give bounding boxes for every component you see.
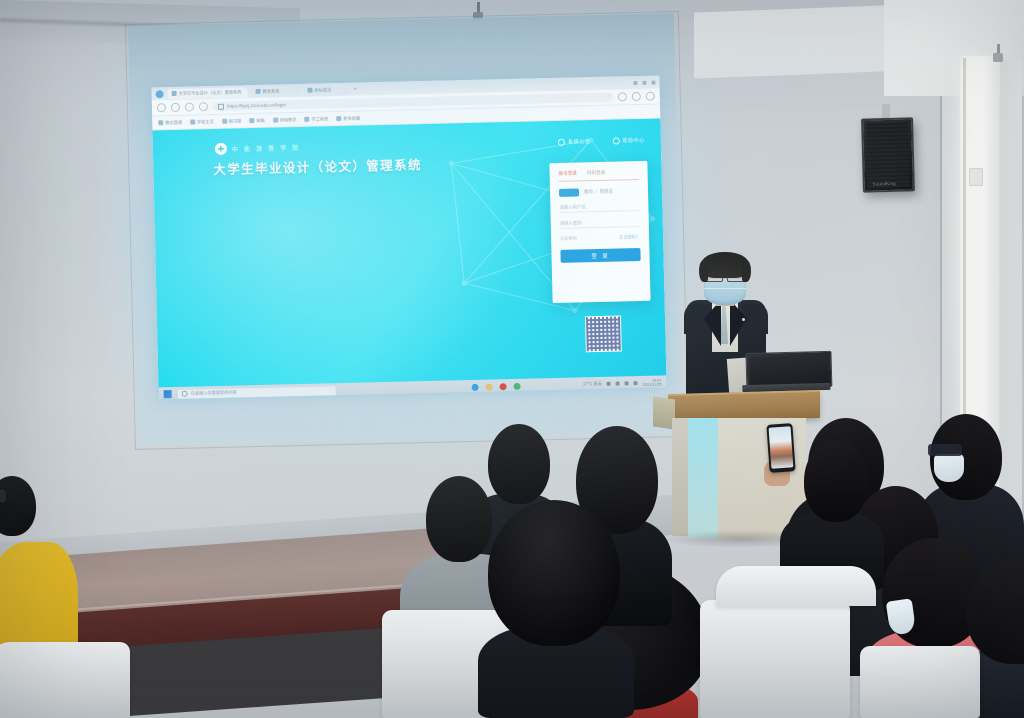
login-options-row: 记住密码 忘记密码？ bbox=[560, 234, 640, 242]
chair bbox=[716, 566, 876, 606]
tab-label: 新标签页 bbox=[314, 87, 331, 93]
username-placeholder: 请输入用户名 bbox=[559, 204, 585, 211]
tab-favicon-icon bbox=[256, 89, 261, 94]
tab-favicon-icon bbox=[308, 88, 313, 93]
bookmark-label: 网络教学 bbox=[280, 117, 297, 123]
presenter-hair-side-right bbox=[742, 260, 751, 282]
bookmark-item[interactable]: 学工系统 bbox=[304, 116, 328, 123]
qr-code bbox=[585, 315, 622, 352]
chair bbox=[860, 646, 980, 718]
tab-favicon-icon bbox=[172, 91, 177, 96]
projection-area: 大学生毕业设计（论文）管理系统 教务系统 新标签页 + bbox=[128, 13, 684, 446]
user-icon[interactable] bbox=[632, 92, 641, 101]
bookmark-label: 学工系统 bbox=[311, 116, 328, 122]
chair bbox=[700, 600, 850, 718]
address-text: https://bysj.zzuli.edu.cn/login bbox=[227, 102, 286, 108]
browser-tab[interactable]: 新标签页 bbox=[303, 84, 349, 95]
browser-tab[interactable]: 大学生毕业设计（论文）管理系统 bbox=[167, 87, 247, 99]
input-method-icon[interactable] bbox=[634, 381, 638, 385]
login-submit-button[interactable]: 登 录 bbox=[560, 248, 640, 263]
tab-label: 教务系统 bbox=[263, 88, 280, 94]
show-hidden-icon[interactable] bbox=[607, 382, 611, 386]
browser-logo-icon bbox=[156, 90, 164, 98]
institution-name: 中 能 源 管 学 院 bbox=[232, 142, 301, 153]
tab-account-login[interactable]: 账号登录 bbox=[559, 170, 578, 176]
taskbar-apps bbox=[472, 382, 521, 390]
system-title: 大学生毕业设计（论文）管理系统 bbox=[213, 154, 422, 178]
site-brand: 中 能 源 管 学 院 bbox=[215, 141, 301, 155]
bookmark-icon bbox=[158, 120, 163, 125]
role-chip-student[interactable] bbox=[559, 188, 579, 196]
mail-icon[interactable] bbox=[500, 383, 507, 390]
bookmark-item[interactable]: 网络教学 bbox=[273, 117, 297, 124]
taskbar-search-placeholder: 在此输入你要搜索的内容 bbox=[191, 390, 237, 397]
window-controls[interactable] bbox=[633, 80, 655, 85]
bookmark-icon bbox=[336, 116, 341, 121]
explorer-icon[interactable] bbox=[486, 383, 493, 390]
tab-label: 大学生毕业设计（论文）管理系统 bbox=[179, 89, 242, 96]
maximize-icon[interactable] bbox=[642, 80, 646, 84]
wall-speaker: SoundKing bbox=[861, 117, 915, 192]
system-tray: 17°C 多云 15:07 2021/11/25 bbox=[583, 378, 662, 389]
chrome-icon[interactable] bbox=[514, 382, 521, 389]
qr-code-pattern bbox=[586, 316, 621, 351]
lock-icon bbox=[218, 103, 224, 109]
bookmark-icon bbox=[249, 118, 254, 123]
header-link-label: 系统公告 bbox=[568, 138, 591, 146]
user-icon bbox=[612, 137, 619, 144]
bell-icon bbox=[558, 139, 565, 146]
password-field[interactable]: 请输入密码 bbox=[560, 218, 640, 229]
windows-start-icon[interactable] bbox=[164, 390, 172, 398]
new-tab-button[interactable]: + bbox=[353, 86, 357, 92]
presenter-hair-side-left bbox=[699, 260, 708, 282]
speaker-brand-label: SoundKing bbox=[873, 181, 896, 187]
chair bbox=[0, 642, 130, 718]
laptop[interactable] bbox=[741, 351, 830, 395]
header-links: 系统公告 帮助中心 bbox=[558, 137, 645, 146]
bookmark-label: 学校主页 bbox=[197, 119, 214, 125]
username-field[interactable]: 请输入用户名 bbox=[559, 202, 639, 213]
audience-face-mask bbox=[934, 454, 964, 482]
bookmark-label: 更多收藏 bbox=[343, 115, 360, 121]
light-switch[interactable] bbox=[969, 168, 983, 186]
audience-head bbox=[0, 476, 36, 536]
presenter-face-mask bbox=[704, 279, 746, 305]
audience-glasses bbox=[928, 444, 962, 456]
edge-icon[interactable] bbox=[472, 383, 479, 390]
bookmark-item[interactable]: 学校主页 bbox=[190, 119, 214, 126]
bookmark-item[interactable]: 更多收藏 bbox=[336, 115, 360, 122]
star-icon[interactable] bbox=[618, 92, 627, 101]
cross-badge-icon bbox=[215, 143, 227, 155]
role-options-label: 教师 ／ 管理员 bbox=[584, 189, 613, 196]
minimize-icon[interactable] bbox=[633, 81, 637, 85]
bookmark-label: 图书馆 bbox=[229, 118, 242, 124]
presenter-lapel-pin bbox=[742, 318, 745, 321]
forgot-password-link[interactable]: 忘记密码？ bbox=[619, 234, 640, 240]
audience-member bbox=[478, 500, 638, 718]
web-page-hero: 中 能 源 管 学 院 大学生毕业设计（论文）管理系统 系统公告 帮助中心 bbox=[152, 118, 666, 399]
speaker-grille bbox=[866, 122, 910, 187]
bookmark-item[interactable]: 图书馆 bbox=[222, 118, 242, 124]
ceiling-sprinkler-icon bbox=[992, 44, 1004, 66]
password-placeholder: 请输入密码 bbox=[560, 220, 582, 227]
bookmark-icon bbox=[304, 117, 309, 122]
tab-qr-login[interactable]: 扫码登录 bbox=[587, 170, 606, 176]
nav-right-icons bbox=[618, 92, 655, 102]
search-icon bbox=[182, 391, 188, 397]
header-link-help[interactable]: 帮助中心 bbox=[612, 137, 645, 145]
audience-head bbox=[804, 440, 868, 522]
clock-date: 2021/11/25 bbox=[643, 383, 662, 387]
arrow-right-icon[interactable] bbox=[171, 103, 180, 112]
bookmark-icon bbox=[273, 117, 278, 122]
header-link-label: 帮助中心 bbox=[622, 137, 645, 145]
bookmark-label: 邮箱 bbox=[256, 117, 265, 123]
browser-tab[interactable]: 教务系统 bbox=[251, 85, 299, 96]
weather-label[interactable]: 17°C 多云 bbox=[583, 381, 602, 387]
browser-window: 大学生毕业设计（论文）管理系统 教务系统 新标签页 + bbox=[151, 75, 666, 399]
volume-icon[interactable] bbox=[625, 381, 629, 385]
arrow-left-icon[interactable] bbox=[157, 103, 166, 112]
audience-glasses bbox=[0, 490, 6, 502]
login-tabs: 账号登录 扫码登录 bbox=[559, 169, 639, 182]
menu-icon[interactable] bbox=[646, 92, 655, 101]
remember-checkbox-label[interactable]: 记住密码 bbox=[560, 235, 577, 241]
home-icon[interactable] bbox=[199, 102, 208, 111]
audience-head bbox=[488, 500, 620, 646]
role-selector[interactable]: 教师 ／ 管理员 bbox=[559, 187, 639, 197]
header-link-announcement[interactable]: 系统公告 bbox=[558, 138, 591, 146]
laptop-screen bbox=[750, 355, 829, 385]
close-icon[interactable] bbox=[651, 80, 655, 84]
reload-icon[interactable] bbox=[185, 102, 194, 111]
bookmark-item[interactable]: 教务管理 bbox=[158, 119, 182, 126]
taskbar-clock[interactable]: 15:07 2021/11/25 bbox=[643, 378, 662, 387]
bookmark-icon bbox=[190, 119, 195, 124]
bookmark-item[interactable]: 邮箱 bbox=[249, 117, 265, 123]
network-icon[interactable] bbox=[616, 382, 620, 386]
bookmark-icon bbox=[222, 119, 227, 124]
podium-glass-panel bbox=[688, 418, 718, 538]
bookmark-label: 教务管理 bbox=[165, 119, 182, 125]
login-card: 账号登录 扫码登录 教师 ／ 管理员 请输入用户名 请输入密码 记住密码 bbox=[549, 161, 650, 303]
screenshot-root: SoundKing 大学生毕业设计（论文）管理系统 教务系统 新标签页 bbox=[0, 0, 1024, 718]
